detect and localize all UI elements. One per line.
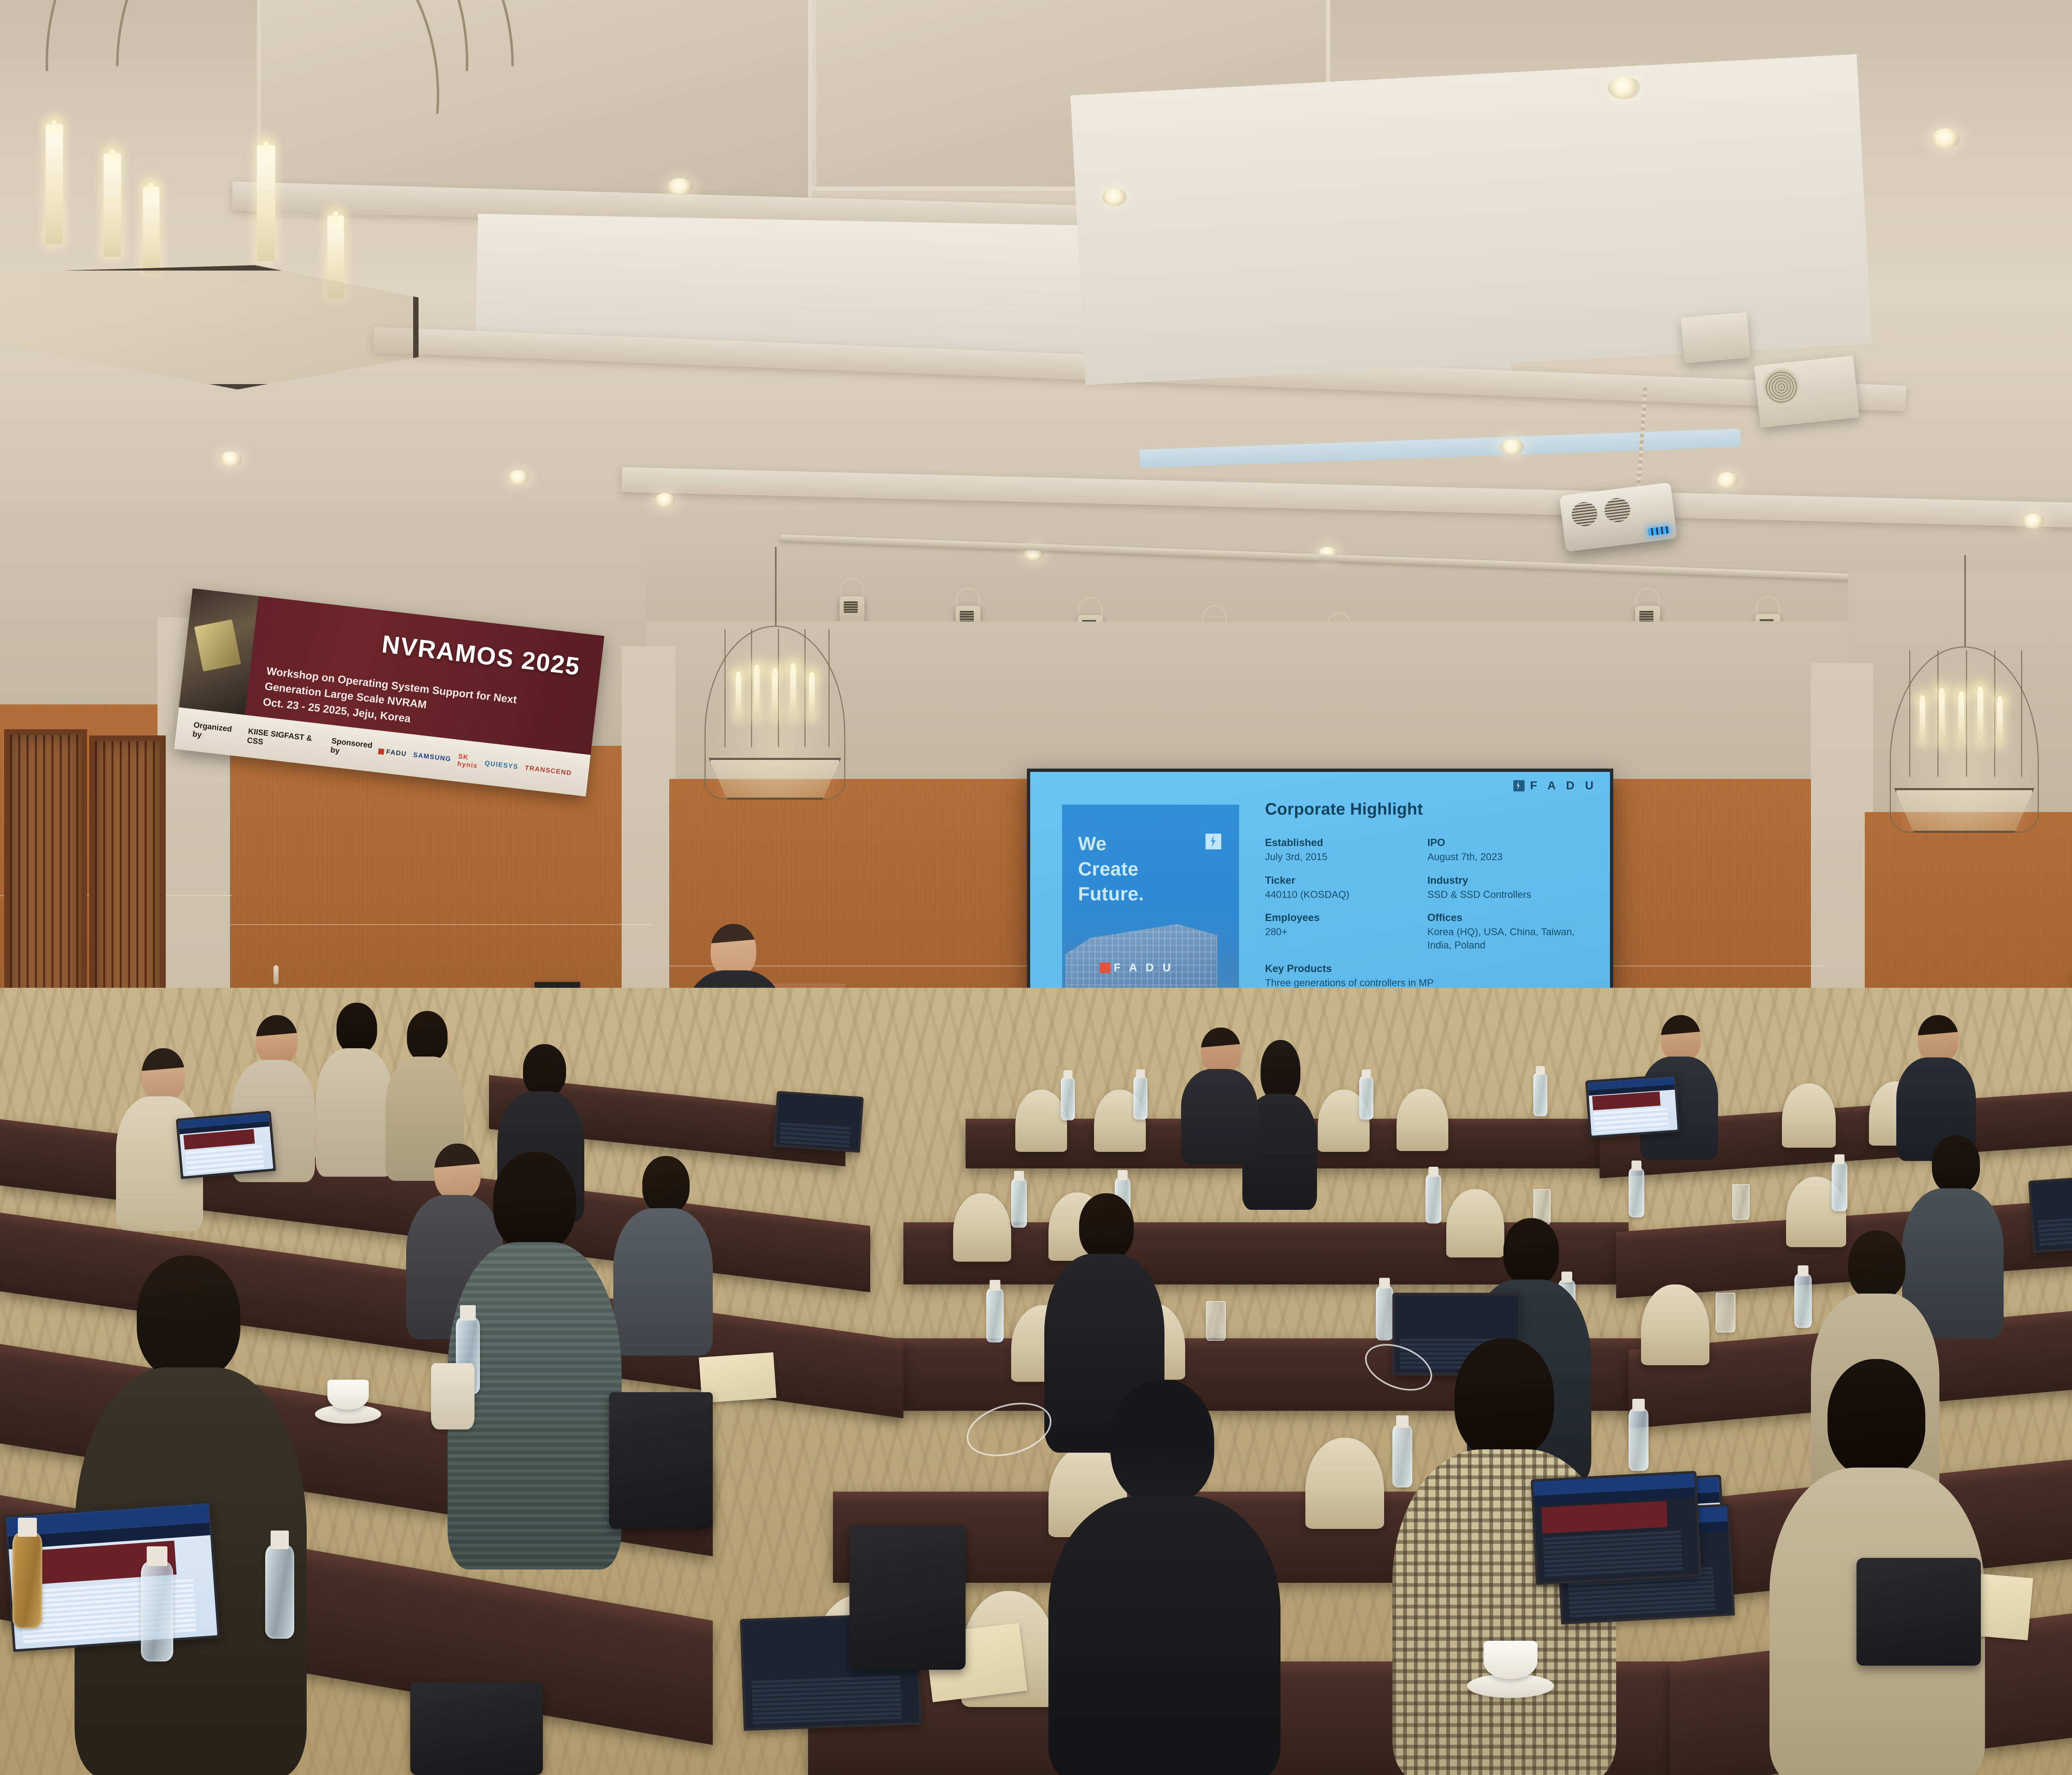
fact-label: Employees bbox=[1265, 912, 1428, 924]
drinking-glass bbox=[1206, 1301, 1226, 1341]
ceiling-light-strip bbox=[1140, 429, 1741, 468]
building-label-text: F A D U bbox=[1114, 961, 1174, 974]
sponsor-logo-skhynix: SK hynix bbox=[457, 753, 479, 770]
banner-photo bbox=[179, 588, 259, 715]
chandelier-candle bbox=[46, 124, 63, 244]
attendee-head bbox=[493, 1152, 576, 1251]
laptop-lid bbox=[176, 1110, 276, 1179]
fact-ipo: IPO August 7th, 2023 bbox=[1427, 837, 1590, 864]
chandelier-candle bbox=[143, 186, 160, 273]
laptop-screen bbox=[1588, 1077, 1677, 1136]
chandelier-candle bbox=[1978, 690, 1983, 746]
projector-vent bbox=[1603, 497, 1632, 524]
water-bottle bbox=[1133, 1076, 1147, 1120]
attendee-head bbox=[1918, 1015, 1958, 1062]
laptop-screen bbox=[2031, 1175, 2072, 1250]
chandelier-candle bbox=[1958, 695, 1964, 746]
water-bottle bbox=[1426, 1175, 1441, 1224]
attendee-torso bbox=[1181, 1069, 1258, 1164]
fadu-logo-mark-hero bbox=[1205, 834, 1221, 849]
chandelier-candle bbox=[809, 676, 815, 719]
speaker-head bbox=[711, 924, 756, 977]
banner-title: NVRAMOS 2025 bbox=[380, 630, 582, 681]
fact-key-products: Key Products Three generations of contro… bbox=[1265, 963, 1590, 990]
water-bottle bbox=[1533, 1073, 1547, 1116]
ac-fan-grille bbox=[1760, 366, 1802, 408]
slide-building-signage: F A D U bbox=[1099, 961, 1174, 974]
attendee-head bbox=[137, 1255, 240, 1380]
attendee-head bbox=[1201, 1028, 1241, 1074]
chandelier-skirt bbox=[709, 758, 841, 800]
attendee-head bbox=[1503, 1218, 1559, 1285]
water-bottle bbox=[1629, 1168, 1644, 1217]
fact-industry: Industry SSD & SSD Controllers bbox=[1427, 875, 1590, 902]
laptop-lid bbox=[2028, 1173, 2072, 1253]
attendee-head bbox=[142, 1048, 185, 1101]
downlight bbox=[1716, 472, 1739, 488]
chandelier-candle bbox=[257, 145, 275, 261]
downlight bbox=[508, 470, 529, 484]
attendee-head bbox=[1455, 1338, 1554, 1458]
chandelier-right bbox=[1890, 646, 2039, 833]
chandelier-candle bbox=[104, 153, 121, 257]
fact-employees: Employees 280+ bbox=[1265, 912, 1428, 952]
slide-brand-logo: F A D U bbox=[1513, 779, 1597, 792]
water-bottle bbox=[1359, 1076, 1373, 1120]
chandelier-stem bbox=[1964, 555, 1966, 646]
water-bottle bbox=[1794, 1274, 1812, 1328]
fact-value: SSD & SSD Controllers bbox=[1427, 888, 1590, 902]
laptop[interactable] bbox=[773, 1091, 864, 1153]
downlight bbox=[667, 178, 693, 196]
attendee-foreground-center bbox=[1048, 1380, 1280, 1775]
chandelier-candle bbox=[1920, 699, 1925, 745]
downlight bbox=[655, 493, 675, 507]
fadu-logo-mark-red bbox=[1099, 962, 1110, 973]
attendee-head bbox=[336, 1003, 377, 1053]
tea-bottle bbox=[12, 1533, 42, 1628]
chandelier-skirt bbox=[1894, 788, 2034, 833]
attendee-head bbox=[642, 1156, 690, 1213]
chandelier-stem bbox=[775, 547, 777, 626]
slide-fact-row: Established July 3rd, 2015 IPO August 7t… bbox=[1265, 837, 1590, 864]
projector-status-leds bbox=[1648, 526, 1670, 536]
attendee-head bbox=[1932, 1135, 1980, 1193]
slide-fact-row: Employees 280+ Offices Korea (HQ), USA, … bbox=[1265, 912, 1590, 952]
sponsor-logo-samsung: SAMSUNG bbox=[413, 752, 452, 763]
tablet-case bbox=[1857, 1558, 1981, 1666]
attendee-mid-left-2 bbox=[613, 1156, 713, 1355]
fact-label: Key Products bbox=[1265, 963, 1590, 975]
fadu-logo-mark bbox=[1513, 780, 1525, 791]
slide-fact-row: Key Products Three generations of contro… bbox=[1265, 963, 1590, 990]
fact-established: Established July 3rd, 2015 bbox=[1265, 837, 1428, 864]
ceiling-beam bbox=[622, 467, 2072, 535]
sponsor-logo-quiesys: QUIESYS bbox=[484, 760, 518, 771]
water-bottle bbox=[1061, 1077, 1075, 1120]
attendee-head bbox=[256, 1015, 298, 1065]
fact-value: August 7th, 2023 bbox=[1427, 851, 1590, 864]
attendee-torso bbox=[316, 1048, 394, 1177]
backpack bbox=[850, 1525, 966, 1670]
slide-hero-tagline: We Create Future. bbox=[1078, 831, 1144, 907]
attendee-torso bbox=[613, 1208, 713, 1356]
attendee-torso bbox=[1048, 1496, 1280, 1775]
downlight bbox=[2022, 514, 2045, 529]
water-bottle bbox=[1629, 1409, 1648, 1471]
laptop-bag bbox=[609, 1392, 713, 1529]
laptop-screen bbox=[776, 1093, 861, 1150]
projector-vent bbox=[1570, 501, 1599, 527]
banner-organized-label: Organized by bbox=[192, 721, 238, 744]
coffee-cup bbox=[327, 1380, 369, 1410]
water-bottle bbox=[1832, 1162, 1847, 1211]
laptop-lid bbox=[1585, 1074, 1680, 1138]
laptop-lid bbox=[1531, 1471, 1702, 1585]
attendee-back-left-2 bbox=[315, 1003, 394, 1177]
hero-line-2: Create bbox=[1078, 858, 1138, 880]
laptop[interactable] bbox=[1531, 1471, 1702, 1585]
backpack-foreground bbox=[410, 1682, 543, 1775]
downlight bbox=[1608, 77, 1640, 99]
laptop[interactable] bbox=[2028, 1173, 2072, 1253]
ceiling-ac-diffuser bbox=[1754, 355, 1859, 428]
attendee-head bbox=[1261, 1040, 1300, 1102]
slide-brand-text: F A D U bbox=[1530, 779, 1597, 792]
fact-label: Ticker bbox=[1265, 875, 1428, 887]
laptop-screen bbox=[179, 1113, 274, 1176]
slide-title: Corporate Highlight bbox=[1265, 800, 1423, 819]
water-bottle bbox=[265, 1545, 294, 1639]
fact-value: 280+ bbox=[1265, 926, 1428, 939]
water-bottle bbox=[1011, 1179, 1027, 1228]
water-bottle bbox=[986, 1289, 1004, 1342]
attendee-head bbox=[407, 1011, 448, 1062]
hero-line-3: Future. bbox=[1078, 883, 1144, 904]
downlight bbox=[1500, 439, 1524, 455]
water-bottle bbox=[1376, 1287, 1393, 1340]
laptop-lid bbox=[773, 1091, 864, 1153]
water-bottle bbox=[141, 1562, 173, 1661]
takeaway-cup bbox=[431, 1363, 474, 1429]
laptop[interactable] bbox=[1585, 1074, 1680, 1138]
fact-label: IPO bbox=[1427, 837, 1590, 849]
attendee-head-with-cap bbox=[1111, 1380, 1214, 1504]
hero-line-1: We bbox=[1078, 833, 1106, 854]
coffee-cup bbox=[1484, 1641, 1537, 1679]
downlight bbox=[1102, 189, 1127, 206]
wood-panel-seam bbox=[230, 924, 653, 925]
downlight bbox=[1931, 128, 1960, 149]
banner-sponsored-label: Sponsored by bbox=[330, 737, 373, 759]
slide-fact-row: Ticker 440110 (KOSDAQ) Industry SSD & SS… bbox=[1265, 875, 1590, 902]
drinking-glass bbox=[1716, 1293, 1736, 1332]
downlight bbox=[220, 452, 242, 467]
laptop-screen bbox=[1533, 1473, 1699, 1582]
fact-offices: Offices Korea (HQ), USA, China, Taiwan, … bbox=[1427, 912, 1590, 952]
ceiling-panel bbox=[1070, 54, 1872, 385]
chandelier-left bbox=[704, 626, 845, 800]
fact-label: Industry bbox=[1427, 875, 1590, 887]
drinking-glass bbox=[1732, 1184, 1750, 1220]
attendee-head bbox=[1848, 1231, 1905, 1299]
laptop[interactable] bbox=[176, 1110, 276, 1179]
conference-room-photo: NVRAMOS 2025 Workshop on Operating Syste… bbox=[0, 0, 2072, 1775]
chandelier-candle bbox=[1939, 692, 1945, 746]
chandelier-candle bbox=[790, 667, 796, 719]
sponsor-logo-fadu: FADU bbox=[378, 747, 407, 758]
chandelier-candle bbox=[1997, 700, 2003, 746]
attendee-head bbox=[1828, 1359, 1925, 1477]
fact-ticker: Ticker 440110 (KOSDAQ) bbox=[1265, 875, 1428, 902]
ceiling-equipment-box bbox=[1681, 312, 1751, 363]
attendee-seated-front-center bbox=[1177, 1028, 1260, 1164]
sponsor-logo-transcend: TRANSCEND bbox=[524, 764, 572, 777]
chandelier-candle bbox=[736, 675, 741, 719]
attendee-head bbox=[1661, 1015, 1701, 1062]
fact-label: Established bbox=[1265, 837, 1428, 849]
banner-organizers: KIISE SIGFAST & CSS bbox=[247, 727, 321, 754]
chandelier-candle bbox=[754, 669, 760, 719]
fact-value: July 3rd, 2015 bbox=[1265, 851, 1428, 864]
chandelier-candle bbox=[772, 672, 778, 719]
attendee-head bbox=[523, 1044, 566, 1096]
fact-value: Korea (HQ), USA, China, Taiwan, India, P… bbox=[1427, 926, 1590, 952]
attendee-head bbox=[1079, 1193, 1134, 1260]
banner-chip-image bbox=[194, 619, 241, 672]
fact-value: 440110 (KOSDAQ) bbox=[1265, 888, 1428, 902]
door-handle[interactable] bbox=[274, 965, 278, 984]
fact-label: Offices bbox=[1427, 912, 1590, 924]
